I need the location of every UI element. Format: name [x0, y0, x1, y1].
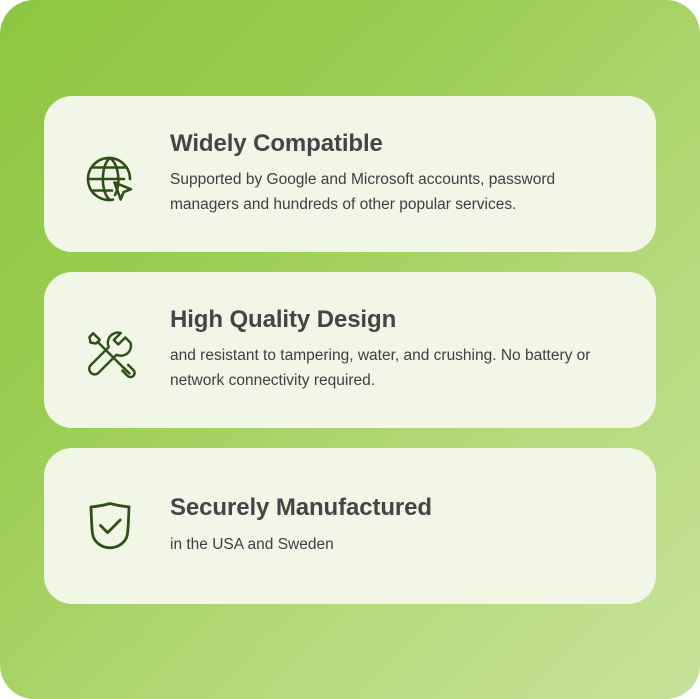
feature-card-body: Widely Compatible Supported by Google an… — [170, 130, 626, 218]
feature-card-title: Widely Compatible — [170, 130, 626, 158]
feature-card: Widely Compatible Supported by Google an… — [44, 96, 656, 252]
feature-card: Securely Manufactured in the USA and Swe… — [44, 448, 656, 604]
wrench-screwdriver-icon — [78, 322, 142, 386]
feature-card-description: Supported by Google and Microsoft accoun… — [170, 167, 626, 217]
feature-card-description: and resistant to tampering, water, and c… — [170, 343, 626, 393]
feature-card-body: High Quality Design and resistant to tam… — [170, 306, 626, 394]
globe-cursor-icon — [78, 147, 142, 211]
shield-check-icon — [78, 494, 142, 558]
feature-card-description: in the USA and Sweden — [170, 532, 626, 557]
feature-cards-panel: Widely Compatible Supported by Google an… — [0, 0, 700, 699]
feature-card-body: Securely Manufactured in the USA and Swe… — [170, 494, 626, 557]
feature-card-title: Securely Manufactured — [170, 494, 626, 522]
feature-card-title: High Quality Design — [170, 306, 626, 334]
feature-card: High Quality Design and resistant to tam… — [44, 272, 656, 428]
